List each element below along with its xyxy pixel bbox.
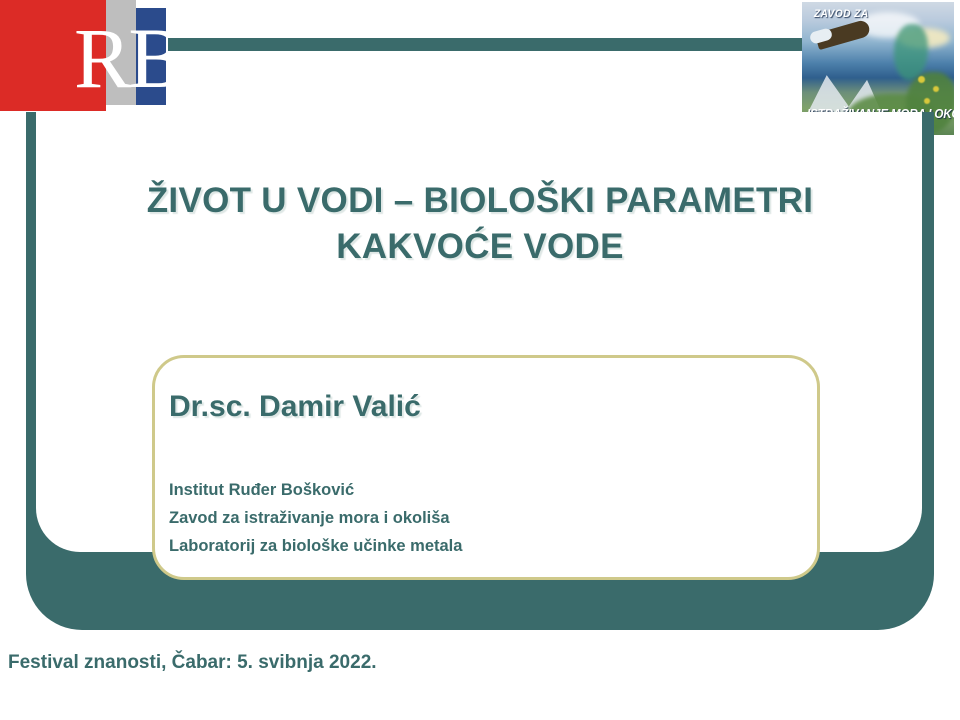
department-logo-title-top: ZAVOD ZA — [814, 8, 869, 20]
institute-logo: RB — [0, 0, 170, 112]
logo-flower-shape — [933, 86, 939, 92]
slide-content-panel-top — [36, 112, 922, 142]
logo-monogram: RB — [74, 14, 174, 104]
affiliation-line: Laboratorij za biološke učinke metala — [169, 532, 462, 560]
header-rule — [168, 38, 815, 51]
author-affiliations: Institut Ruđer Bošković Zavod za istraži… — [169, 476, 462, 560]
logo-flower-shape — [918, 76, 925, 83]
logo-fish-shape — [894, 24, 928, 80]
affiliation-line: Zavod za istraživanje mora i okoliša — [169, 504, 462, 532]
footer-note: Festival znanosti, Čabar: 5. svibnja 202… — [8, 652, 377, 674]
logo-flower-shape — [924, 98, 930, 104]
author-name: Dr.sc. Damir Valić — [169, 390, 421, 424]
page-title: ŽIVOT U VODI – BIOLOŠKI PARAMETRI KAKVOĆ… — [60, 178, 900, 270]
author-card: Dr.sc. Damir Valić Institut Ruđer Boškov… — [152, 355, 820, 580]
affiliation-line: Institut Ruđer Bošković — [169, 476, 462, 504]
